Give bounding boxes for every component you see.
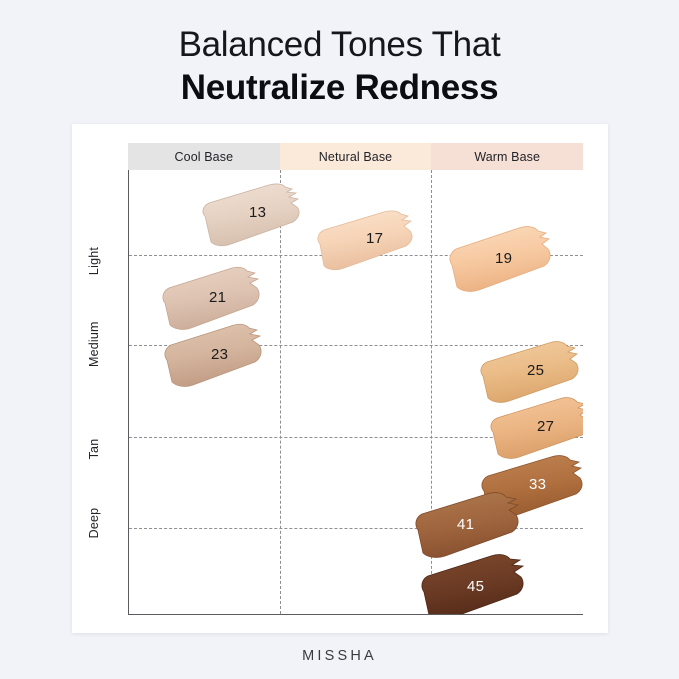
title-line-2: Neutralize Redness: [0, 67, 679, 110]
column-header-netural-base-label: Netural Base: [319, 150, 392, 164]
shade-swatch-13[interactable]: 13: [197, 182, 317, 250]
shade-plot-area: 13 17: [128, 170, 583, 615]
column-header-warm-base-label: Warm Base: [474, 150, 540, 164]
shade-matrix-card: Cool Base Netural Base Warm Base Light M…: [72, 124, 608, 633]
column-header-cool-base-label: Cool Base: [175, 150, 234, 164]
y-axis-label-tan: Tan: [87, 429, 101, 469]
column-header-cool-base: Cool Base: [128, 143, 280, 170]
y-axis-label-medium: Medium: [87, 327, 101, 367]
y-axis-label-light: Light: [87, 241, 101, 281]
shade-swatch-23[interactable]: 23: [161, 322, 279, 392]
shade-swatch-45[interactable]: 45: [417, 552, 545, 615]
shade-swatch-17[interactable]: 17: [314, 208, 429, 276]
y-axis-label-deep: Deep: [87, 503, 101, 543]
brand-logo: MISSHA: [0, 648, 679, 664]
page-title: Balanced Tones That Neutralize Redness: [0, 24, 679, 109]
shade-swatch-19[interactable]: 19: [447, 225, 567, 297]
column-header-band: Cool Base Netural Base Warm Base: [128, 143, 583, 170]
column-header-warm-base: Warm Base: [431, 143, 583, 170]
column-header-netural-base: Netural Base: [280, 143, 432, 170]
title-line-1: Balanced Tones That: [0, 24, 679, 67]
